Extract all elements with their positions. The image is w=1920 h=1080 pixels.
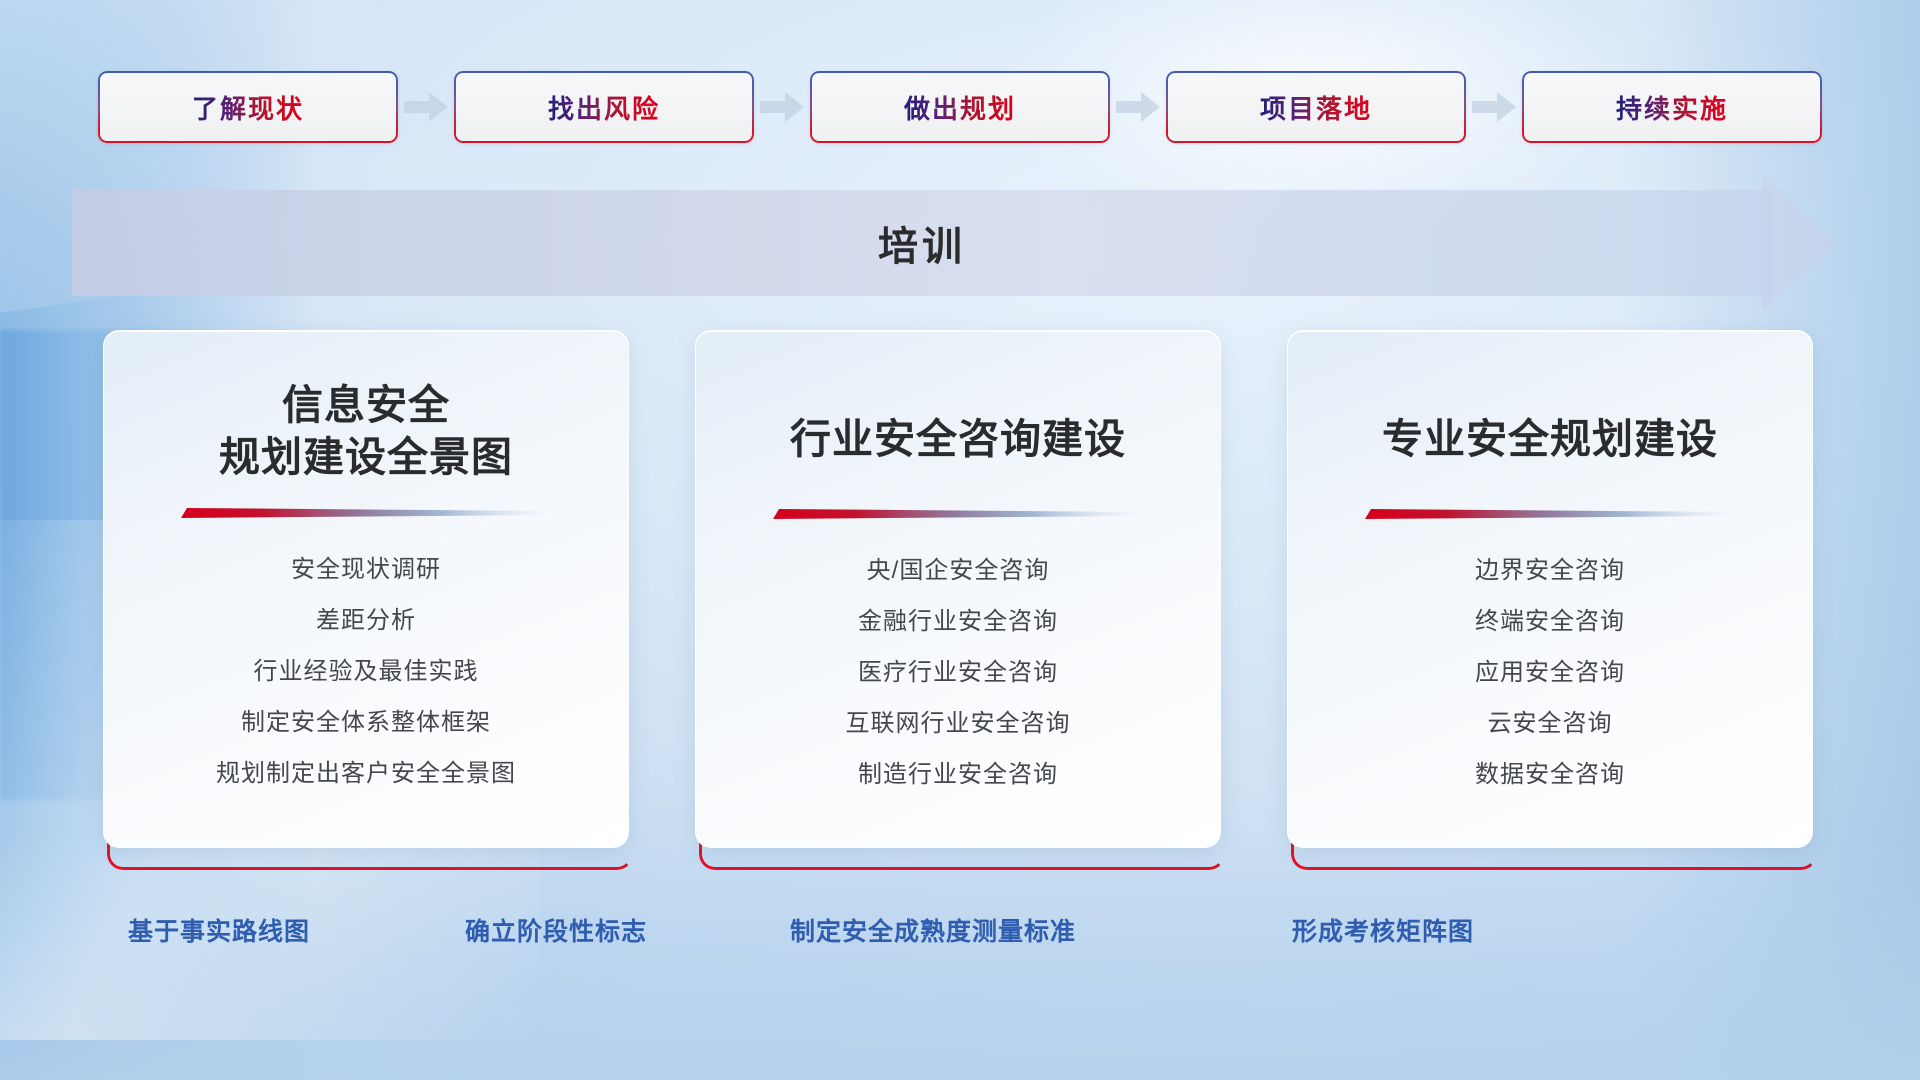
step-label: 做出规划 bbox=[904, 89, 1016, 126]
step-label: 了解现状 bbox=[192, 89, 304, 126]
card-1: 信息安全 规划建设全景图 安全现状调研 bbox=[103, 330, 633, 870]
list-item: 制造行业安全咨询 bbox=[858, 754, 1058, 789]
bottom-label-2: 确立阶段性标志 bbox=[465, 912, 647, 948]
card-item-list: 安全现状调研 差距分析 行业经验及最佳实践 制定安全体系整体框架 规划制定出客户… bbox=[216, 549, 516, 788]
bottom-label-3: 制定安全成熟度测量标准 bbox=[790, 912, 1076, 948]
training-banner-arrowhead bbox=[1762, 174, 1838, 312]
step-flow: 了解现状 找出风险 做出规划 项目落地 持续实施 bbox=[0, 68, 1920, 146]
list-item: 医疗行业安全咨询 bbox=[858, 652, 1058, 687]
list-item: 互联网行业安全咨询 bbox=[846, 703, 1071, 738]
bottom-label-4: 形成考核矩阵图 bbox=[1292, 912, 1474, 948]
card-divider bbox=[1365, 507, 1735, 520]
list-item: 云安全咨询 bbox=[1488, 703, 1613, 738]
bottom-label-row: 基于事实路线图 确立阶段性标志 制定安全成熟度测量标准 形成考核矩阵图 bbox=[0, 912, 1920, 972]
step-label: 持续实施 bbox=[1616, 89, 1728, 126]
step-box-2[interactable]: 找出风险 bbox=[454, 71, 754, 143]
step-box-4[interactable]: 项目落地 bbox=[1166, 71, 1466, 143]
list-item: 终端安全咨询 bbox=[1475, 601, 1625, 636]
list-item: 应用安全咨询 bbox=[1475, 652, 1625, 687]
step-label: 项目落地 bbox=[1260, 89, 1372, 126]
list-item: 央/国企安全咨询 bbox=[867, 550, 1050, 585]
card-panel[interactable]: 信息安全 规划建设全景图 安全现状调研 bbox=[103, 330, 629, 848]
arrow-right-icon bbox=[1110, 71, 1166, 143]
card-panel[interactable]: 专业安全规划建设 边界安全咨询 bbox=[1287, 330, 1813, 848]
card-item-list: 央/国企安全咨询 金融行业安全咨询 医疗行业安全咨询 互联网行业安全咨询 制造行… bbox=[846, 550, 1071, 789]
step-box-1[interactable]: 了解现状 bbox=[98, 71, 398, 143]
arrow-right-icon bbox=[398, 71, 454, 143]
training-banner-title: 培训 bbox=[72, 190, 1772, 296]
list-item: 边界安全咨询 bbox=[1475, 550, 1625, 585]
list-item: 规划制定出客户安全全景图 bbox=[216, 753, 516, 788]
card-title: 专业安全规划建设 bbox=[1382, 413, 1718, 465]
card-divider bbox=[773, 507, 1143, 520]
step-box-3[interactable]: 做出规划 bbox=[810, 71, 1110, 143]
list-item: 行业经验及最佳实践 bbox=[254, 651, 479, 686]
card-title: 信息安全 规划建设全景图 bbox=[219, 379, 513, 484]
card-2: 行业安全咨询建设 央/国企安全咨询 bbox=[695, 330, 1225, 870]
training-banner: 培训 bbox=[72, 190, 1848, 296]
card-row: 信息安全 规划建设全景图 安全现状调研 bbox=[0, 330, 1920, 870]
card-3: 专业安全规划建设 边界安全咨询 bbox=[1287, 330, 1817, 870]
list-item: 安全现状调研 bbox=[291, 549, 441, 584]
card-divider bbox=[181, 506, 551, 519]
step-label: 找出风险 bbox=[548, 89, 660, 126]
arrow-right-icon bbox=[754, 71, 810, 143]
bottom-label-1: 基于事实路线图 bbox=[128, 912, 310, 948]
list-item: 制定安全体系整体框架 bbox=[241, 702, 491, 737]
list-item: 金融行业安全咨询 bbox=[858, 601, 1058, 636]
list-item: 数据安全咨询 bbox=[1475, 754, 1625, 789]
card-title: 行业安全咨询建设 bbox=[790, 413, 1126, 465]
step-box-5[interactable]: 持续实施 bbox=[1522, 71, 1822, 143]
list-item: 差距分析 bbox=[316, 600, 416, 635]
card-panel[interactable]: 行业安全咨询建设 央/国企安全咨询 bbox=[695, 330, 1221, 848]
card-item-list: 边界安全咨询 终端安全咨询 应用安全咨询 云安全咨询 数据安全咨询 bbox=[1475, 550, 1625, 789]
arrow-right-icon bbox=[1466, 71, 1522, 143]
